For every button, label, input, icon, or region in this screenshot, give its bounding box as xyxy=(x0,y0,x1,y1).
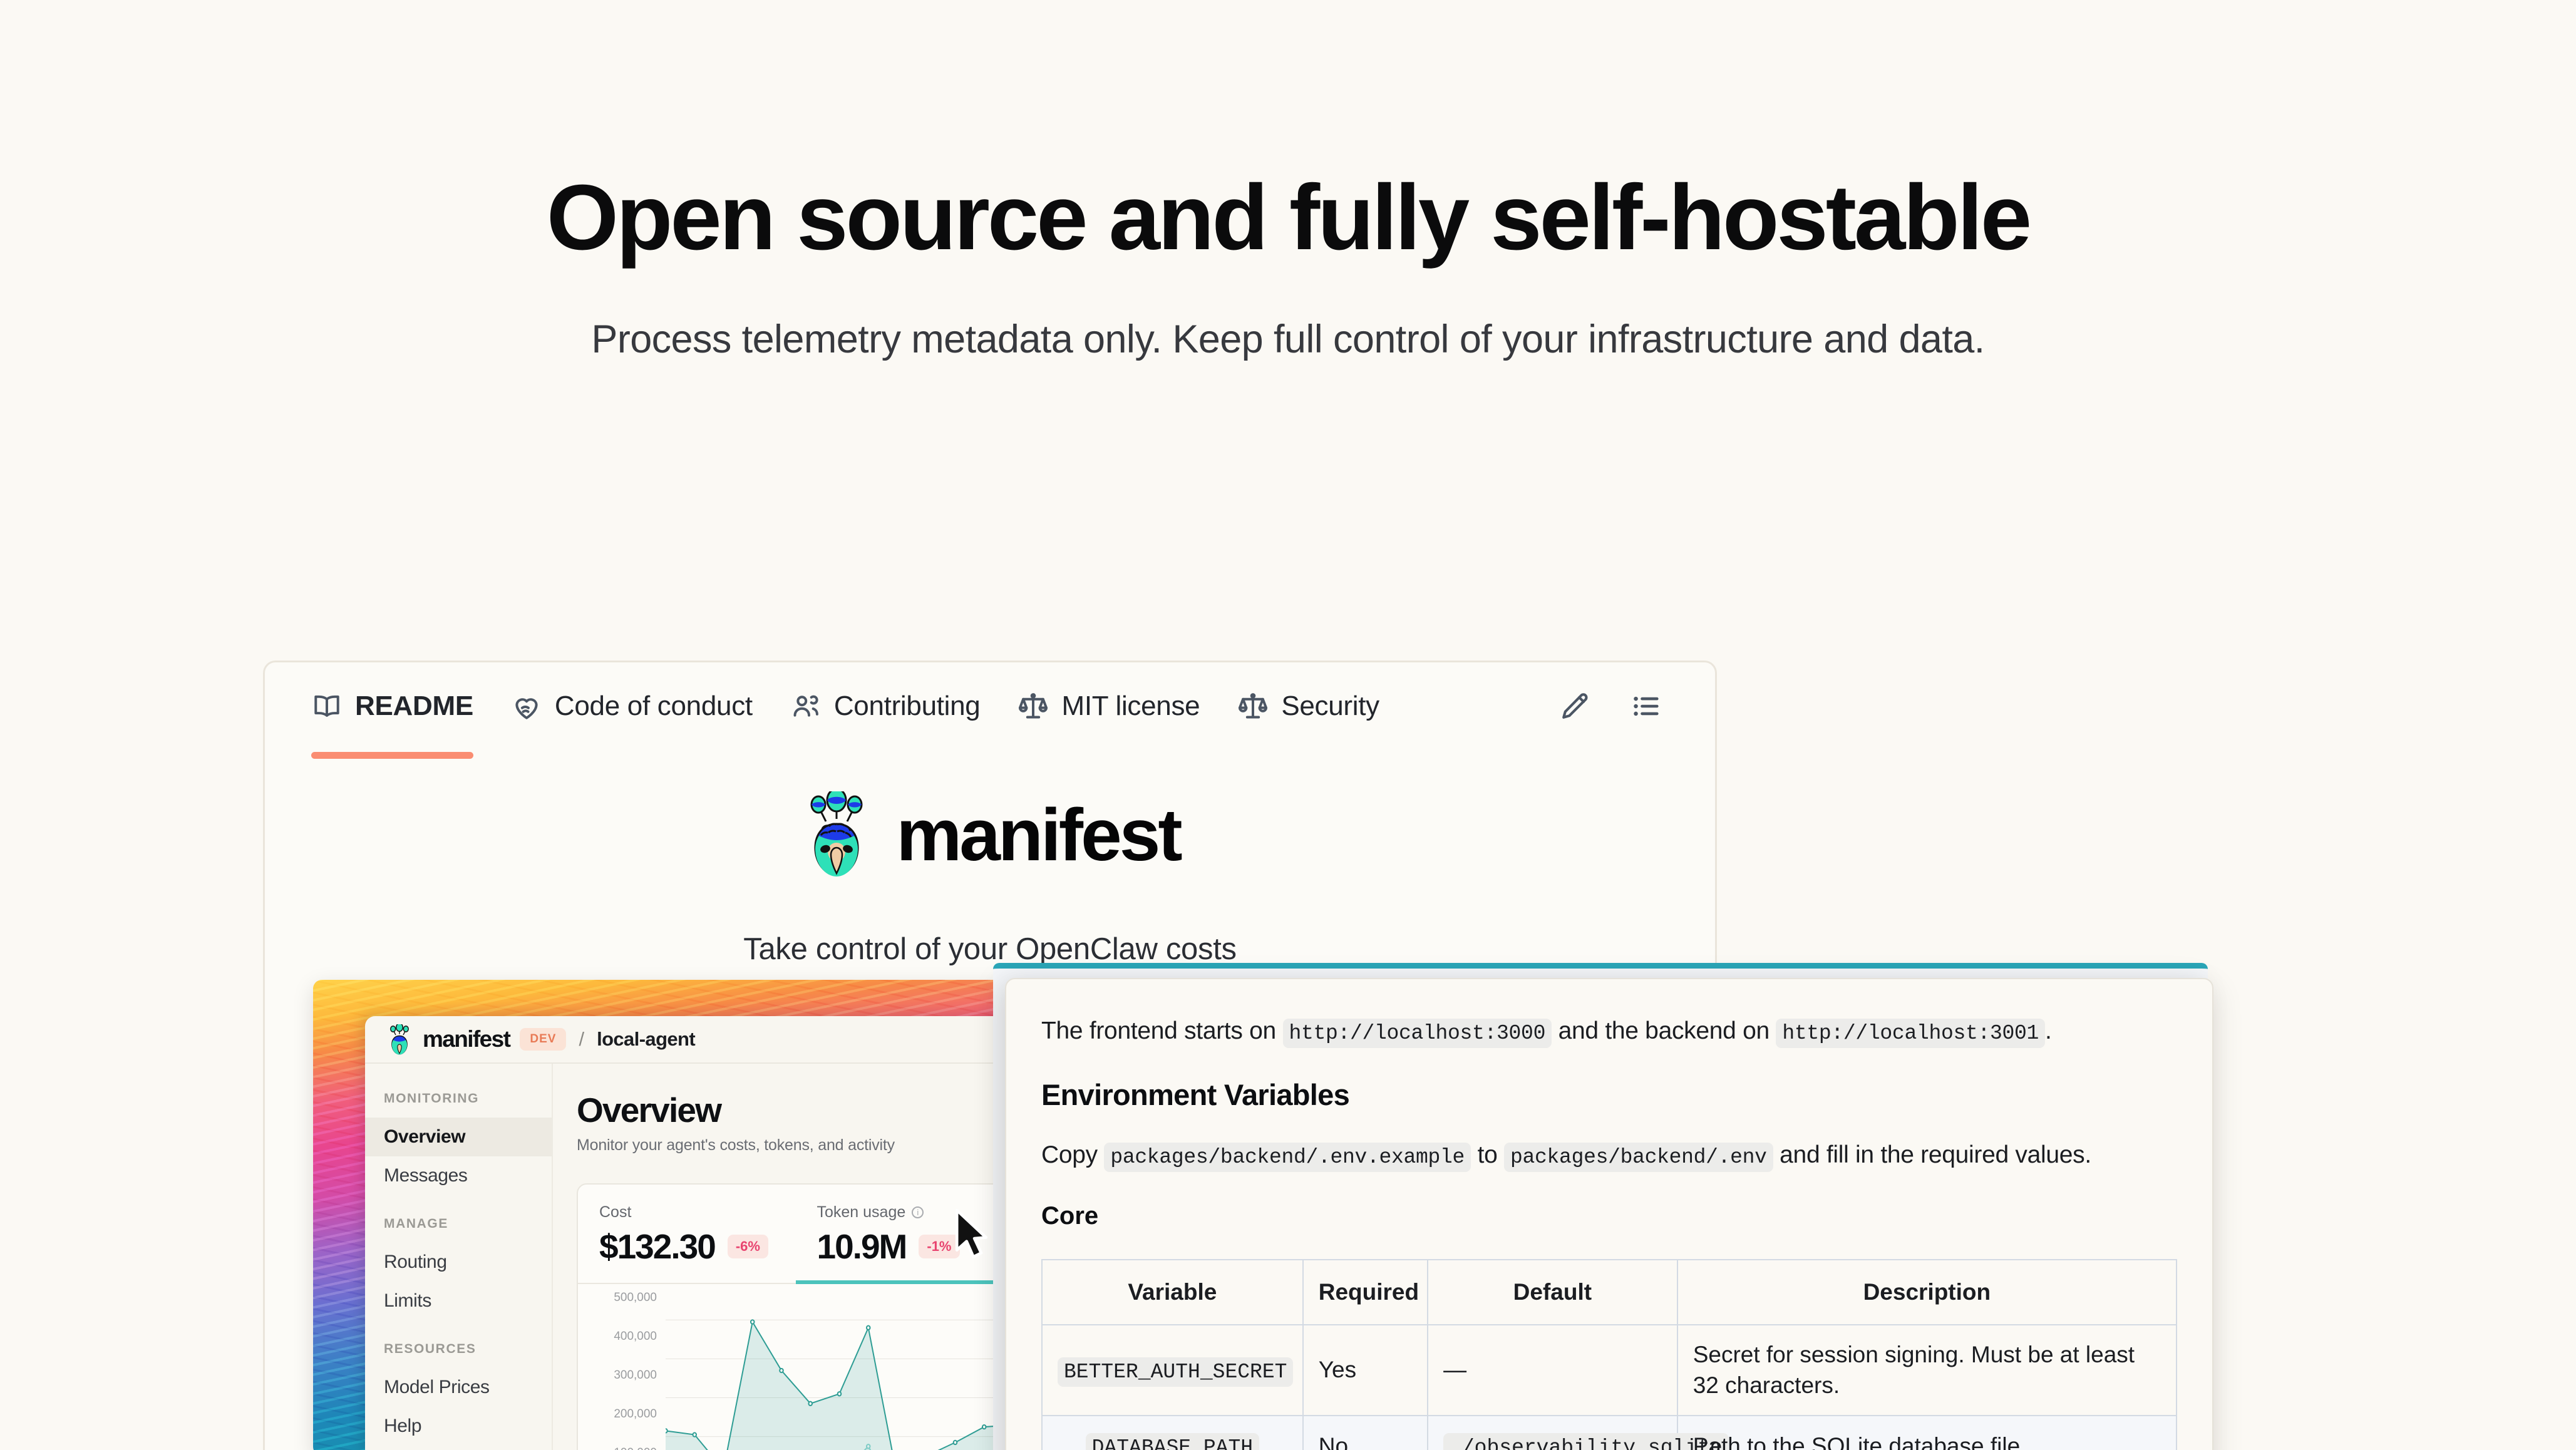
stat-token-usage-value: 10.9M xyxy=(817,1226,907,1267)
hero-subtitle: Process telemetry metadata only. Keep fu… xyxy=(584,314,1992,366)
backend-url-code: http://localhost:3001 xyxy=(1776,1019,2045,1048)
tab-label: Code of conduct xyxy=(555,691,753,722)
variable-name-code: DATABASE_PATH xyxy=(1086,1433,1259,1450)
cell-variable: DATABASE_PATH xyxy=(1042,1416,1303,1450)
tab-mit-license[interactable]: MIT license xyxy=(1018,662,1237,750)
page-title: Open source and fully self-hostable xyxy=(0,169,2576,266)
edit-pencil-icon[interactable] xyxy=(1558,690,1591,722)
intro-text-after: . xyxy=(2045,1017,2052,1044)
stat-cost-label: Cost xyxy=(599,1203,796,1221)
tab-label: Security xyxy=(1281,691,1379,722)
tab-label: MIT license xyxy=(1061,691,1200,722)
stat-cost[interactable]: Cost $132.30 -6% xyxy=(578,1185,796,1283)
people-icon xyxy=(790,691,822,722)
stats-card: Cost $132.30 -6% Token usage i xyxy=(577,1183,1014,1450)
intro-text-middle: and the backend on xyxy=(1558,1017,1770,1044)
sidebar-item-limits[interactable]: Limits xyxy=(365,1282,552,1320)
env-example-path-code: packages/backend/.env.example xyxy=(1104,1143,1471,1172)
environment-variables-heading: Environment Variables xyxy=(1041,1077,2177,1112)
chart-plot-area xyxy=(666,1298,1013,1450)
breadcrumb-separator: / xyxy=(579,1028,584,1051)
sidebar-caption-monitoring: MONITORING xyxy=(365,1091,552,1106)
stat-cost-value: $132.30 xyxy=(599,1226,715,1267)
env-badge: DEV xyxy=(520,1028,566,1051)
cell-required: No xyxy=(1303,1416,1428,1450)
dashboard-window: manifest DEV / local-agent MONITORING Ov… xyxy=(365,1016,1014,1450)
token-usage-chart: 500,000 400,000 300,000 200,000 100,000 xyxy=(578,1284,1013,1450)
copy-text-before: Copy xyxy=(1041,1141,1098,1168)
cell-description: Path to the SQLite database file. xyxy=(1677,1416,2177,1450)
intro-text-before: The frontend starts on xyxy=(1041,1017,1276,1044)
dashboard-sidebar: MONITORING Overview Messages MANAGE Rout… xyxy=(365,1064,553,1450)
cell-default: — xyxy=(1428,1325,1677,1416)
sidebar-item-overview[interactable]: Overview xyxy=(365,1118,552,1156)
code-of-conduct-icon xyxy=(511,691,542,722)
readme-content: manifest Take control of your OpenClaw c… xyxy=(265,750,1715,967)
stat-token-usage-label-text: Token usage xyxy=(817,1203,906,1221)
dashboard-screenshot: manifest DEV / local-agent MONITORING Ov… xyxy=(313,980,1014,1450)
sidebar-item-routing[interactable]: Routing xyxy=(365,1243,552,1282)
dashboard-topbar: manifest DEV / local-agent xyxy=(365,1016,1014,1064)
tab-contributing[interactable]: Contributing xyxy=(790,662,1018,750)
sidebar-caption-resources: RESOURCES xyxy=(365,1342,552,1357)
table-row: DATABASE_PATH No ./observability.sqlite … xyxy=(1042,1416,2177,1450)
y-tick: 200,000 xyxy=(592,1414,657,1450)
info-circle-icon[interactable]: i xyxy=(912,1206,924,1218)
cell-variable: BETTER_AUTH_SECRET xyxy=(1042,1325,1303,1416)
column-header-description: Description xyxy=(1677,1260,2177,1325)
readme-tabbar: README Code of conduct Contributing MIT … xyxy=(265,662,1715,750)
sidebar-item-help[interactable]: Help xyxy=(365,1407,552,1446)
tab-label: README xyxy=(355,691,473,722)
table-header-row: Variable Required Default Description xyxy=(1042,1260,2177,1325)
manifest-logo-lockup: manifest xyxy=(265,791,1715,879)
table-row: BETTER_AUTH_SECRET Yes — Secret for sess… xyxy=(1042,1325,2177,1416)
markdown-doc-panel: The frontend starts on http://localhost:… xyxy=(1005,978,2213,1450)
copy-env-paragraph: Copy packages/backend/.env.example to pa… xyxy=(1041,1137,2177,1174)
sidebar-caption-manage: MANAGE xyxy=(365,1216,552,1231)
cell-description: Secret for session signing. Must be at l… xyxy=(1677,1325,2177,1416)
column-header-required: Required xyxy=(1303,1260,1428,1325)
sidebar-item-messages[interactable]: Messages xyxy=(365,1156,552,1195)
core-subheading: Core xyxy=(1041,1202,2177,1230)
copy-text-after: and fill in the required values. xyxy=(1780,1141,2091,1168)
manifest-peacock-logo-icon xyxy=(386,1024,413,1054)
law-scale-icon xyxy=(1018,691,1049,722)
cell-default: ./observability.sqlite xyxy=(1428,1416,1677,1450)
manifest-wordmark: manifest xyxy=(896,793,1180,878)
copy-text-middle: to xyxy=(1478,1141,1498,1168)
env-path-code: packages/backend/.env xyxy=(1504,1143,1773,1172)
tab-security[interactable]: Security xyxy=(1237,662,1417,750)
outline-list-icon[interactable] xyxy=(1630,690,1662,722)
column-header-default: Default xyxy=(1428,1260,1677,1325)
stat-cost-delta: -6% xyxy=(728,1235,768,1258)
variable-name-code: BETTER_AUTH_SECRET xyxy=(1058,1357,1293,1387)
dashboard-content: Overview Monitor your agent's costs, tok… xyxy=(553,1064,1014,1450)
dashboard-main: MONITORING Overview Messages MANAGE Rout… xyxy=(365,1064,1014,1450)
readme-actions xyxy=(1558,690,1669,722)
tab-label: Contributing xyxy=(834,691,981,722)
cell-required: Yes xyxy=(1303,1325,1428,1416)
column-header-variable: Variable xyxy=(1042,1260,1303,1325)
chart-y-axis: 500,000 400,000 300,000 200,000 100,000 xyxy=(592,1298,657,1450)
readme-tagline: Take control of your OpenClaw costs xyxy=(265,932,1715,967)
stats-row: Cost $132.30 -6% Token usage i xyxy=(578,1185,1013,1283)
hero-section: Open source and fully self-hostable Proc… xyxy=(0,0,2576,366)
intro-paragraph: The frontend starts on http://localhost:… xyxy=(1041,1013,2177,1050)
book-icon xyxy=(311,691,343,722)
mouse-cursor-icon xyxy=(953,1208,992,1262)
default-value-code: ./observability.sqlite xyxy=(1443,1433,1729,1450)
manifest-peacock-logo-icon xyxy=(800,791,873,879)
law-scale-icon xyxy=(1237,691,1269,722)
tab-code-of-conduct[interactable]: Code of conduct xyxy=(511,662,790,750)
landing-page: Open source and fully self-hostable Proc… xyxy=(0,0,2576,1450)
breadcrumb-project: local-agent xyxy=(597,1028,695,1051)
overview-subtitle: Monitor your agent's costs, tokens, and … xyxy=(577,1136,1014,1154)
tab-readme[interactable]: README xyxy=(311,662,511,750)
sidebar-item-model-prices[interactable]: Model Prices xyxy=(365,1368,552,1407)
dashboard-brand: manifest xyxy=(423,1026,510,1052)
overview-title: Overview xyxy=(577,1090,1014,1130)
frontend-url-code: http://localhost:3000 xyxy=(1283,1019,1552,1048)
env-variables-table: Variable Required Default Description BE… xyxy=(1041,1259,2177,1450)
